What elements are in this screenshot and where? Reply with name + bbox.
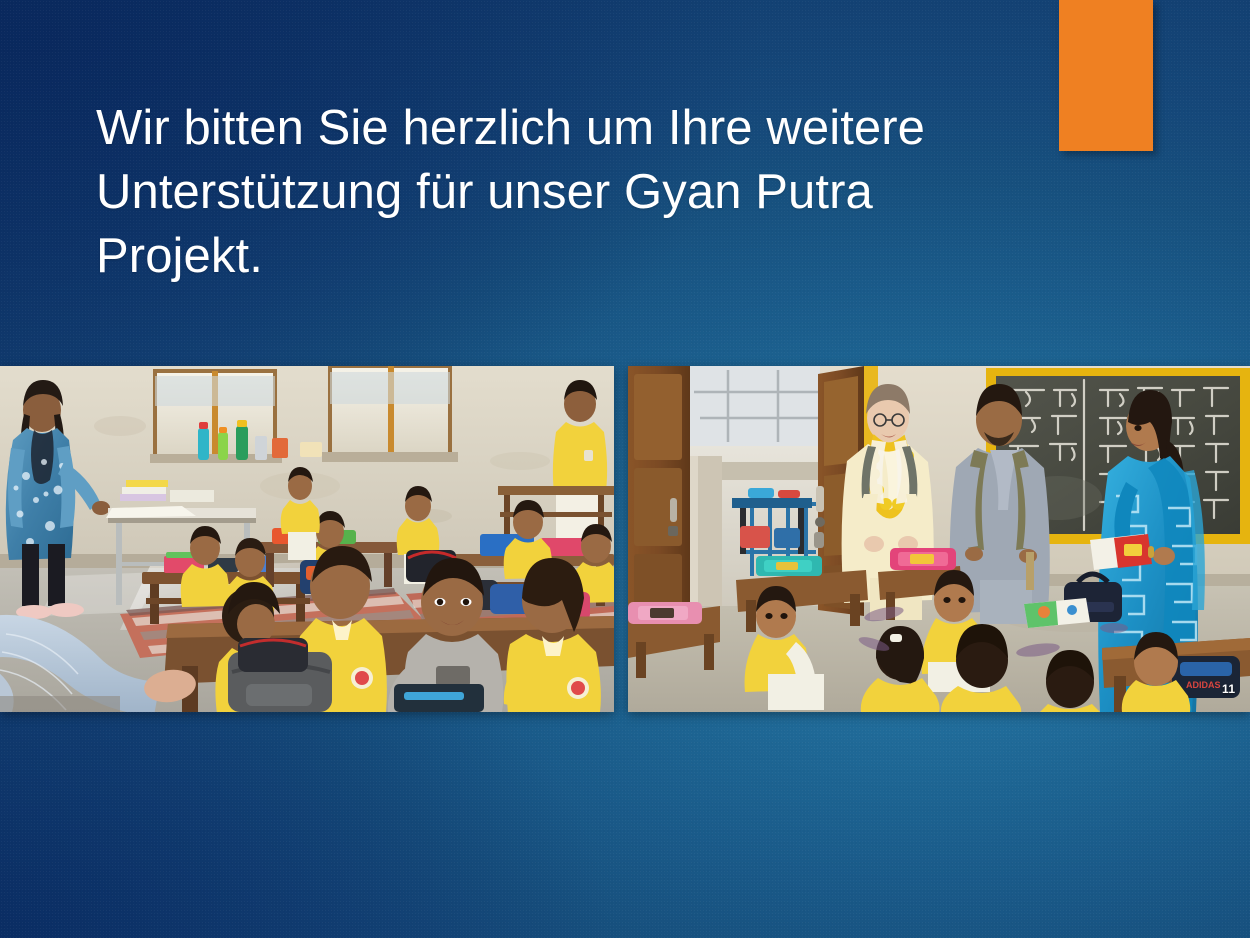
- page-title: Wir bitten Sie herzlich um Ihre weitere …: [96, 96, 1016, 288]
- svg-text:ADIDAS: ADIDAS: [1186, 680, 1221, 690]
- classroom-photo-right: ADIDAS: [628, 366, 1250, 712]
- slide-number: 11: [1222, 682, 1236, 696]
- presentation-slide: Wir bitten Sie herzlich um Ihre weitere …: [0, 0, 1250, 938]
- classroom-photo-left: [0, 366, 614, 712]
- orange-accent-block: [1059, 0, 1153, 151]
